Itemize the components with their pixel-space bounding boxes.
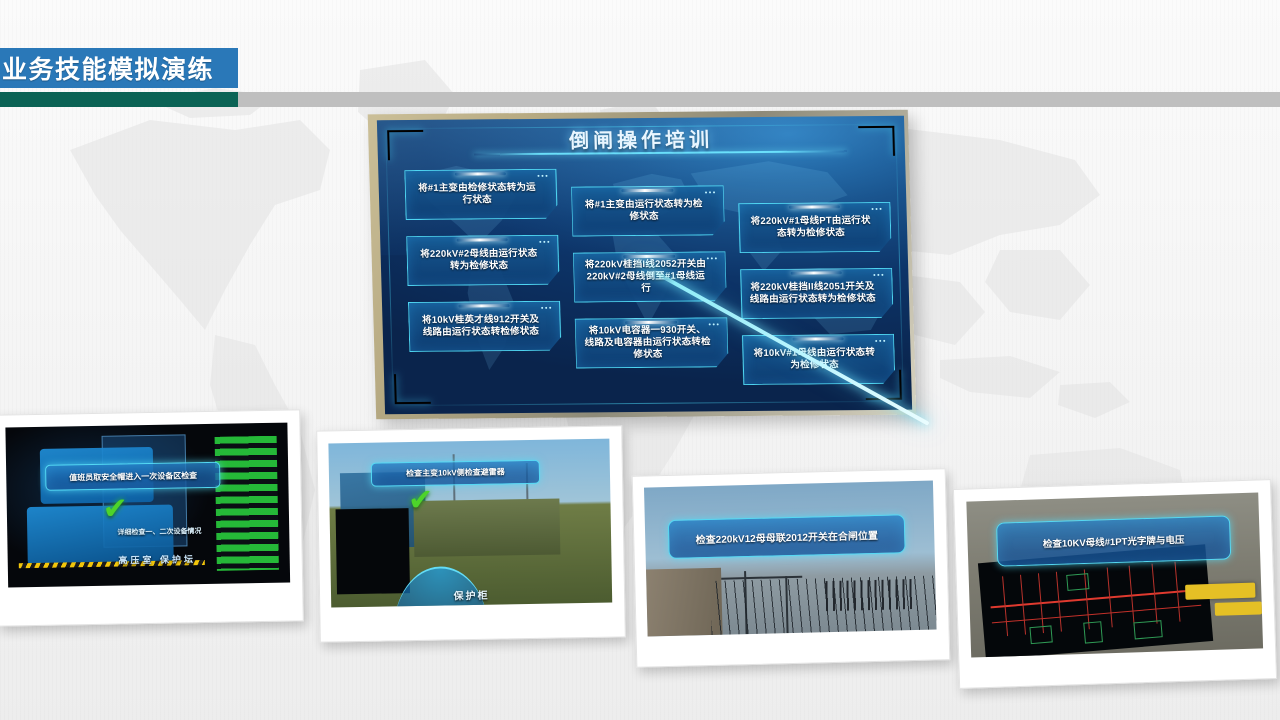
- menu-cell: 将220kV#1母线PT由运行状态转为检修状态: [738, 202, 892, 259]
- menu-cell: 将#1主变由检修状态转为运行状态: [404, 169, 558, 226]
- menu-cell: 将220kV#2母线由运行状态转为检修状态: [406, 235, 560, 292]
- thumbnail-image: 检查10KV母线#1PT光字牌与电压: [966, 492, 1263, 657]
- thumbnail-caption: 检查10KV母线#1PT光字牌与电压: [996, 515, 1231, 566]
- more-dots-icon: [708, 323, 718, 325]
- menu-item-label: 将220kV桂挡II线2051开关及线路由运行状态转为检修状态: [749, 281, 876, 306]
- thumbnail-photo-frame[interactable]: 值班员取安全帽进入一次设备区检查 ✔ 详细检查一、二次设备情况 高压室 保护坛: [0, 409, 304, 626]
- main-display-screenshot: 倒闸操作培训 将#1主变由检修状态转为运行状态 将#1主变由运行状态转为检修状态: [368, 110, 917, 420]
- corner-bracket-bottom-left-icon: [394, 374, 431, 404]
- menu-cell: 将10kV#1母线由运行状态转为检修状态: [742, 334, 896, 391]
- green-check-icon: ✔: [102, 494, 128, 524]
- dark-panel-decor: [335, 508, 410, 595]
- thumbnail-secondary-caption: 详细检查一、二次设备情况: [92, 526, 228, 538]
- thumbnail-image: 值班员取安全帽进入一次设备区检查 ✔ 详细检查一、二次设备情况 高压室 保护坛: [5, 423, 290, 588]
- thumbnail-secondary-caption: 保护柜: [415, 586, 528, 603]
- menu-cell: 将10kV电容器一930开关、线路及电容器由运行状态转检修状态: [575, 317, 729, 374]
- header-rule-teal: [0, 92, 238, 107]
- menu-item-transformer1-to-running[interactable]: 将#1主变由检修状态转为运行状态: [404, 169, 558, 220]
- menu-item-label: 将#1主变由检修状态转为运行状态: [414, 182, 541, 207]
- menu-cell: 将#1主变由运行状态转为检修状态: [571, 185, 725, 242]
- more-dots-icon: [706, 257, 716, 259]
- more-dots-icon: [873, 274, 883, 276]
- menu-item-912-switch-to-maintenance[interactable]: 将10kV桂英才线912开关及线路由运行状态转检修状态: [408, 301, 562, 352]
- training-menu-grid: 将#1主变由检修状态转为运行状态 将#1主变由运行状态转为检修状态 将220kV…: [404, 160, 894, 352]
- more-dots-icon: [875, 340, 885, 342]
- yellow-tag-decor: [1215, 602, 1262, 616]
- menu-item-label: 将10kV#1母线由运行状态转为检修状态: [751, 347, 878, 372]
- thumbnail-caption: 检查主变10kV侧检查避雷器: [371, 459, 540, 487]
- diagram-box-decor: [1065, 574, 1089, 591]
- thumbnail-tertiary-caption: 高压室 保护坛: [87, 552, 228, 567]
- display-bezel: 倒闸操作培训 将#1主变由检修状态转为运行状态 将#1主变由运行状态转为检修状态: [368, 110, 917, 420]
- menu-item-2052-switch-transfer[interactable]: 将220kV桂挡I线2052开关由220kV#2母线倒至#1母线运行: [573, 251, 727, 302]
- green-check-icon: ✔: [408, 486, 434, 516]
- menu-item-220kv-bus1-pt-to-maintenance[interactable]: 将220kV#1母线PT由运行状态转为检修状态: [738, 202, 892, 253]
- thumbnail-photo-frame[interactable]: 检查10KV母线#1PT光字牌与电压: [953, 479, 1277, 689]
- menu-item-label: 将10kV桂英才线912开关及线路由运行状态转检修状态: [417, 314, 544, 339]
- menu-cell: 将220kV桂挡II线2051开关及线路由运行状态转为检修状态: [740, 268, 894, 325]
- training-menu-screen: 倒闸操作培训 将#1主变由检修状态转为运行状态 将#1主变由运行状态转为检修状态: [377, 116, 912, 414]
- transformer-body-decor: [414, 498, 561, 556]
- more-dots-icon: [541, 307, 551, 309]
- thumbnail-photo-frame[interactable]: 检查220kV12母母联2012开关在合闸位置: [632, 468, 951, 668]
- menu-item-220kv-bus2-to-maintenance[interactable]: 将220kV#2母线由运行状态转为检修状态: [406, 235, 560, 286]
- yellow-tag-decor: [1185, 583, 1255, 599]
- training-screen-title: 倒闸操作培训: [377, 122, 905, 156]
- thumbnail-photo-frame[interactable]: 检查主变10kV侧检查避雷器 ✔ 保护柜: [316, 425, 626, 642]
- thumbnail-caption: 检查220kV12母母联2012开关在合闸位置: [668, 514, 906, 559]
- menu-item-label: 将220kV桂挡I线2052开关由220kV#2母线倒至#1母线运行: [582, 258, 709, 296]
- thumbnail-image: 检查220kV12母母联2012开关在合闸位置: [644, 481, 937, 637]
- header-rule-grey: [238, 92, 1280, 107]
- menu-cell: 将10kV桂英才线912开关及线路由运行状态转检修状态: [408, 301, 562, 358]
- more-dots-icon: [540, 241, 550, 243]
- diagram-box-decor: [1133, 620, 1162, 640]
- menu-item-label: 将#1主变由运行状态转为检修状态: [580, 198, 707, 223]
- menu-item-capacitor-930-to-maintenance[interactable]: 将10kV电容器一930开关、线路及电容器由运行状态转检修状态: [575, 317, 729, 368]
- menu-item-10kv-bus1-to-maintenance[interactable]: 将10kV#1母线由运行状态转为检修状态: [742, 334, 896, 385]
- menu-item-transformer1-to-maintenance[interactable]: 将#1主变由运行状态转为检修状态: [571, 185, 725, 236]
- thumbnail-caption: 值班员取安全帽进入一次设备区检查: [46, 462, 221, 491]
- more-dots-icon: [538, 175, 548, 177]
- diagram-box-decor: [1083, 621, 1103, 644]
- menu-item-label: 将220kV#1母线PT由运行状态转为检修状态: [747, 215, 874, 240]
- more-dots-icon: [871, 208, 881, 210]
- thumbnail-image: 检查主变10kV侧检查避雷器 ✔ 保护柜: [328, 439, 612, 608]
- page-title-text: 业务技能模拟演练: [2, 50, 214, 86]
- power-lines-decor: [710, 576, 937, 635]
- menu-item-label: 将10kV电容器一930开关、线路及电容器由运行状态转检修状态: [584, 324, 711, 362]
- page-title: 业务技能模拟演练: [0, 48, 238, 88]
- slide-canvas: 业务技能模拟演练: [0, 0, 1280, 720]
- menu-cell: 将220kV桂挡I线2052开关由220kV#2母线倒至#1母线运行: [573, 251, 727, 308]
- diagram-box-decor: [1029, 625, 1053, 644]
- menu-item-2051-switch-to-maintenance[interactable]: 将220kV桂挡II线2051开关及线路由运行状态转为检修状态: [740, 268, 894, 319]
- menu-item-label: 将220kV#2母线由运行状态转为检修状态: [415, 248, 542, 273]
- more-dots-icon: [705, 191, 715, 193]
